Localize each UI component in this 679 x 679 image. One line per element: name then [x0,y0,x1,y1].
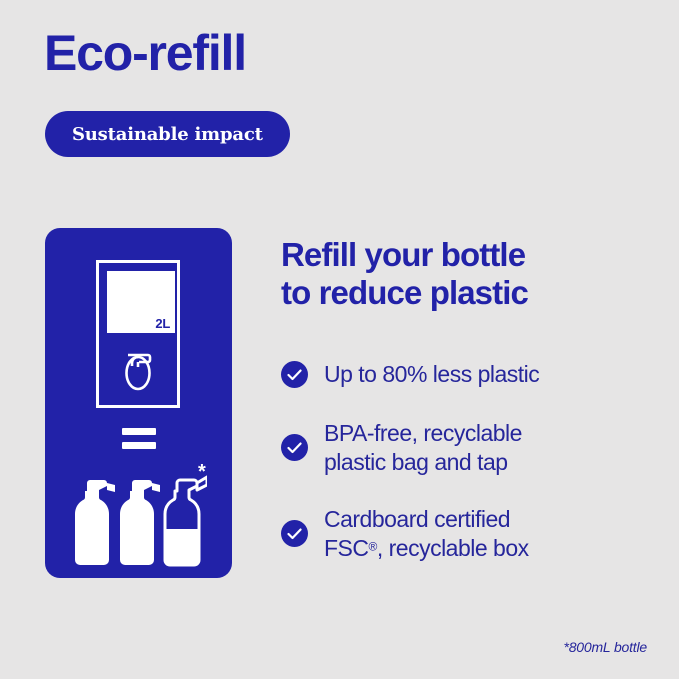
badge-label: Sustainable impact [72,124,263,145]
eco-refill-infographic: Eco-refill Sustainable impact 2L [0,0,679,679]
list-item: Cardboard certified FSC®, recyclable box [281,505,651,563]
equals-bar-bottom [122,442,156,449]
footnote: *800mL bottle [563,639,647,655]
list-item: BPA-free, recyclable plastic bag and tap [281,419,651,477]
box-volume-label: 2L [107,271,175,333]
registered-trademark-symbol: ® [369,540,377,554]
check-circle-icon [281,520,308,547]
spray-bottle-icon [75,480,115,565]
list-item-label: Up to 80% less plastic [324,360,539,389]
benefits-list: Up to 80% less plastic BPA-free, recycla… [281,358,651,563]
check-circle-icon [281,434,308,461]
headline: Refill your bottle to reduce plastic [281,236,528,313]
list-item-label-after: , recyclable box [377,535,529,561]
page-title: Eco-refill [44,26,246,81]
equals-bar-top [122,428,156,435]
spray-bottle-icon [120,480,160,565]
illustration-card: 2L [45,228,232,578]
list-item: Up to 80% less plastic [281,358,651,391]
list-item-label: Cardboard certified FSC®, recyclable box [324,505,529,563]
spray-bottle-outline-icon [161,477,207,571]
tap-icon [119,343,157,398]
asterisk-marker: * [198,462,206,482]
box-volume-value: 2L [155,317,170,330]
list-item-label: BPA-free, recyclable plastic bag and tap [324,419,522,477]
spray-bottles-group [71,471,207,576]
refill-box-icon: 2L [96,260,180,408]
equals-icon [122,428,156,449]
check-circle-icon [281,361,308,388]
sustainable-impact-badge: Sustainable impact [45,111,290,157]
